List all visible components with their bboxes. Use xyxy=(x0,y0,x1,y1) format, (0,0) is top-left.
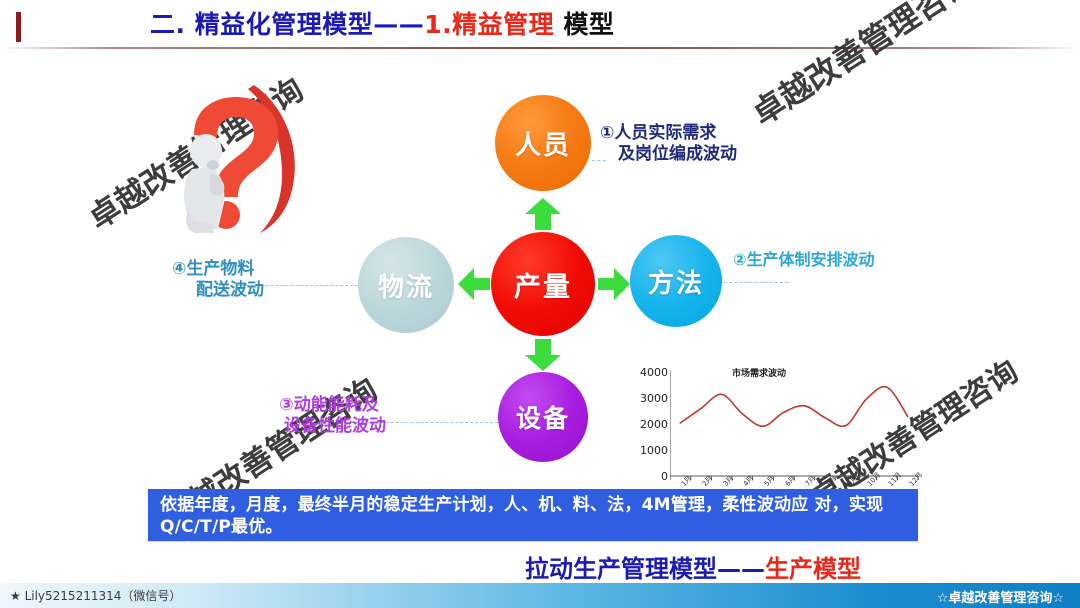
slide-canvas: 二. 精益化管理模型——1.精益管理 模型 卓越改善管理咨询 卓越改善管理咨询 … xyxy=(0,0,1080,608)
y-tick-4000: 4000 xyxy=(634,366,668,379)
node-output[interactable]: 产量 xyxy=(491,232,595,336)
page-title: 二. 精益化管理模型——1.精益管理 模型 xyxy=(150,10,614,40)
page-title-part-3: 模型 xyxy=(554,10,614,39)
annotation-logistics-line1: ④生产物料 xyxy=(172,259,254,279)
annotation-equipment: ③动能能耗及 设备性能波动 xyxy=(272,395,386,436)
slide-header: 二. 精益化管理模型——1.精益管理 模型 xyxy=(0,0,1080,50)
bottom-caption: 拉动生产管理模型——生产模型 xyxy=(525,549,861,584)
arrow-up-icon xyxy=(524,198,562,230)
dash-connector-method xyxy=(724,282,788,283)
summary-line-1: 依据年度，月度，最终半月的稳定生产计划，人、机、料、法，4M管理，柔性波动应 xyxy=(160,495,808,515)
node-logistics[interactable]: 物流 xyxy=(358,237,454,333)
y-tick-3000: 3000 xyxy=(634,392,668,405)
slide-footer: ★ Lily5215211314（微信号） ☆卓越改善管理咨询☆ xyxy=(0,583,1080,608)
thinker-question-mark-illustration xyxy=(150,75,340,240)
node-people[interactable]: 人员 xyxy=(495,95,591,191)
y-tick-0: 0 xyxy=(634,470,668,483)
arrow-down-icon xyxy=(524,339,562,371)
annotation-people: ①人员实际需求 及岗位编成波动 xyxy=(600,123,737,164)
summary-callout-text: 依据年度，月度，最终半月的稳定生产计划，人、机、料、法，4M管理，柔性波动应 对… xyxy=(160,494,908,539)
market-demand-chart: 市场需求波动 4000 3000 2000 1000 0 1月2月3月4月5月6… xyxy=(628,358,928,488)
annotation-equipment-line1: ③动能能耗及 xyxy=(279,395,378,415)
annotation-method-line1: ②生产体制安排波动 xyxy=(733,250,875,269)
annotation-method: ②生产体制安排波动 xyxy=(733,250,875,270)
arrow-right-icon xyxy=(598,268,630,300)
footer-brand: ☆卓越改善管理咨询☆ xyxy=(937,587,1064,606)
annotation-people-line2: 及岗位编成波动 xyxy=(600,144,737,165)
footer-wechat-id: ★ Lily5215211314（微信号） xyxy=(10,587,181,604)
chart-y-axis-labels: 4000 3000 2000 1000 0 xyxy=(630,366,668,472)
node-equipment[interactable]: 设备 xyxy=(498,372,588,462)
annotation-logistics-line2: 配送波动 xyxy=(172,280,264,301)
annotation-equipment-line2: 设备性能波动 xyxy=(272,416,386,437)
node-method[interactable]: 方法 xyxy=(630,235,722,327)
page-title-part-1: 二. 精益化管理模型—— xyxy=(150,10,424,39)
page-title-part-2: 1.精益管理 xyxy=(424,10,554,39)
chart-plot-area xyxy=(670,370,920,482)
thinking-person-icon xyxy=(174,133,248,237)
header-divider xyxy=(0,47,1080,49)
annotation-logistics: ④生产物料 配送波动 xyxy=(172,259,264,300)
arrow-left-icon xyxy=(458,268,490,300)
annotation-people-line1: ①人员实际需求 xyxy=(600,123,716,143)
header-accent-bar xyxy=(16,12,21,42)
summary-callout-box: 依据年度，月度，最终半月的稳定生产计划，人、机、料、法，4M管理，柔性波动应 对… xyxy=(148,489,918,541)
y-tick-1000: 1000 xyxy=(634,444,668,457)
y-tick-2000: 2000 xyxy=(634,418,668,431)
bottom-caption-part-1: 拉动生产管理模型—— xyxy=(525,555,765,583)
bottom-caption-part-2: 生产模型 xyxy=(765,555,861,583)
